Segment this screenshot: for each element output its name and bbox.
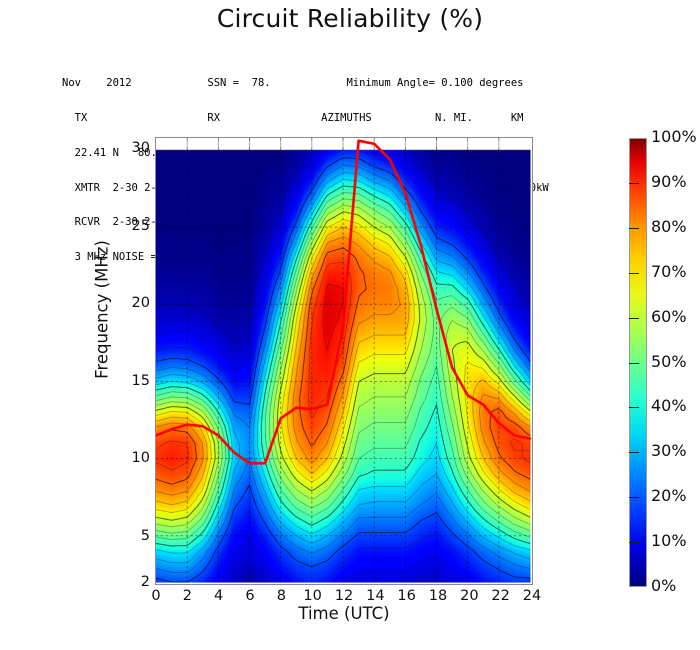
x-axis-ticks: 024681012141618202224: [0, 588, 700, 612]
colorbar-tick-mark: [629, 542, 639, 543]
colorbar-tick-label: 60%: [651, 307, 687, 326]
colorbar-tick-label: 90%: [651, 172, 687, 191]
colorbar-tick-label: 40%: [651, 396, 687, 415]
colorbar-tick-label: 30%: [651, 441, 687, 460]
colorbar-tick-mark: [629, 452, 639, 453]
colorbar-tick-mark: [629, 407, 639, 408]
colorbar-tick-label: 100%: [651, 127, 697, 146]
colorbar-tick-label: 80%: [651, 217, 687, 236]
reliability-heatmap: [156, 138, 532, 584]
header-line-2: TX RX AZIMUTHS N. MI. KM: [62, 113, 662, 125]
x-tick-label: 24: [512, 588, 552, 604]
header-line-1: Nov 2012 SSN = 78. Minimum Angle= 0.100 …: [62, 78, 662, 90]
y-tick-label: 25: [110, 218, 150, 234]
y-axis-ticks: 251015202530: [104, 0, 150, 650]
plot-area: [155, 137, 533, 585]
y-tick-label: 30: [110, 140, 150, 156]
colorbar-tick-label: 20%: [651, 486, 687, 505]
colorbar-tick-mark: [629, 273, 639, 274]
colorbar-tick-mark: [629, 228, 639, 229]
colorbar-tick-label: 0%: [651, 576, 676, 595]
colorbar-ticks: 0%10%20%30%40%50%60%70%80%90%100%: [629, 130, 699, 600]
colorbar-tick-label: 10%: [651, 531, 687, 550]
colorbar-tick-mark: [629, 497, 639, 498]
colorbar-tick-mark: [629, 363, 639, 364]
y-tick-label: 5: [110, 528, 150, 544]
y-tick-label: 20: [110, 295, 150, 311]
figure-root: Circuit Reliability (%) Nov 2012 SSN = 7…: [0, 0, 700, 650]
colorbar-tick-label: 50%: [651, 352, 687, 371]
y-tick-label: 15: [110, 373, 150, 389]
colorbar-tick-mark: [629, 183, 639, 184]
colorbar-tick-label: 70%: [651, 262, 687, 281]
colorbar-tick-mark: [629, 318, 639, 319]
y-tick-label: 10: [110, 450, 150, 466]
